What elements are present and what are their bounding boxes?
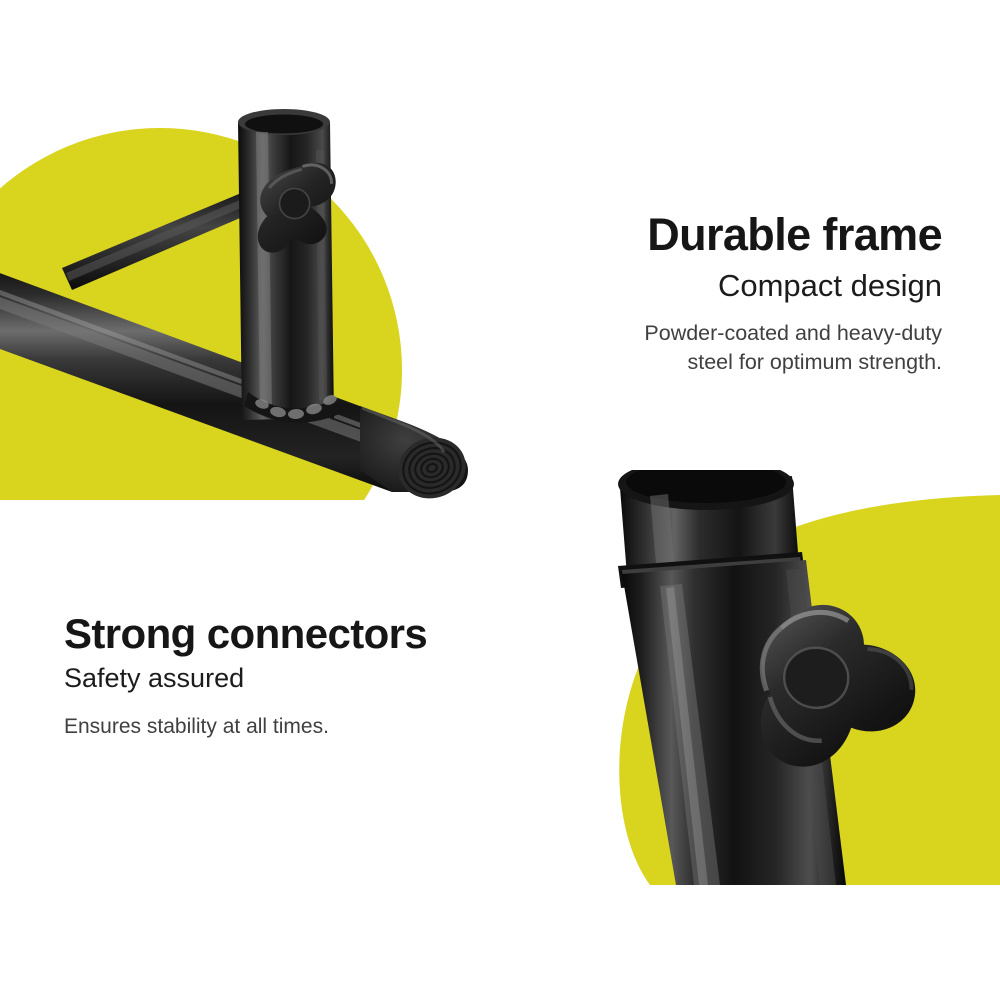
vertical-post [238,109,334,420]
strong-connectors-image [500,470,1000,885]
infographic-root: Durable frame Compact design Powder-coat… [0,0,1000,1000]
strong-connectors-title: Strong connectors [64,612,514,656]
durable-frame-body: Powder-coated and heavy-duty steel for o… [522,319,942,377]
durable-frame-text: Durable frame Compact design Powder-coat… [522,212,942,376]
connector-knob-illustration [500,470,1000,885]
strong-connectors-subtitle: Safety assured [64,664,514,694]
durable-frame-subtitle: Compact design [522,269,942,303]
frame-joint-illustration [0,0,500,500]
durable-frame-body-line-1: Powder-coated and heavy-duty [522,319,942,348]
durable-frame-body-line-2: steel for optimum strength. [522,348,942,377]
durable-frame-image [0,0,500,500]
strong-connectors-body: Ensures stability at all times. [64,713,514,741]
strong-connectors-body-line-1: Ensures stability at all times. [64,713,514,741]
strong-connectors-text: Strong connectors Safety assured Ensures… [64,612,514,741]
durable-frame-title: Durable frame [522,212,942,259]
